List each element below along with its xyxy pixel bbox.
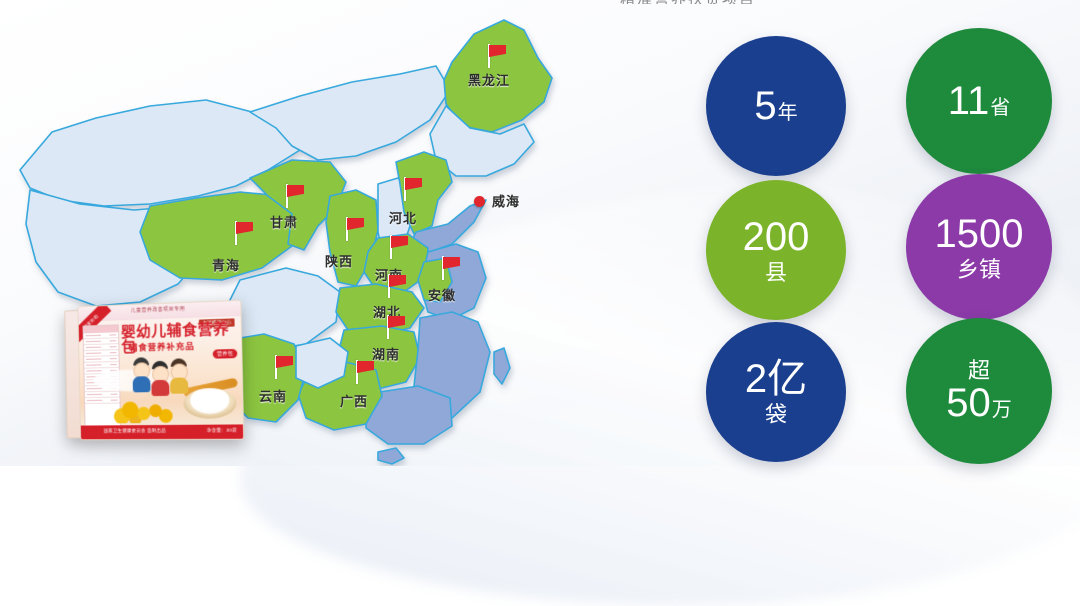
- province-label: 河北: [389, 208, 417, 227]
- stat-value: 2亿: [745, 359, 807, 399]
- stat-prefix: 超: [968, 360, 990, 382]
- stat-value: 200: [743, 217, 810, 257]
- product-footer: 国家卫生健康委员会 监制出品 净含量：30袋: [81, 424, 243, 439]
- stat-unit-inline: 省: [990, 97, 1010, 119]
- province-label: 湖南: [372, 344, 400, 363]
- stat-circle-years[interactable]: 5年: [706, 36, 846, 176]
- stat-value: 5年: [754, 86, 797, 126]
- city-label: 威海: [492, 191, 520, 210]
- region-hainan: [378, 448, 404, 464]
- province-label: 广西: [340, 391, 368, 410]
- child-body: [133, 376, 151, 392]
- region-taiwan: [494, 348, 510, 384]
- province-label: 河南: [375, 265, 403, 284]
- stat-number: 1500: [935, 212, 1024, 256]
- clipped-heading: 精准营养扶贫项目: [620, 0, 880, 4]
- province-label: 云南: [259, 386, 287, 405]
- stat-unit-below: 袋: [765, 404, 787, 426]
- product-box: 儿童营养改善项目专用 中国疾控中心 国家补助 婴幼儿辅食营养包 辅食营养补充品: [77, 300, 244, 441]
- stat-circle-townships[interactable]: 1500乡镇: [906, 174, 1052, 320]
- city-dot-icon: [474, 196, 485, 207]
- stat-value: 50万: [946, 383, 1012, 423]
- province-label: 黑龙江: [468, 70, 510, 89]
- child-body: [151, 380, 169, 396]
- province-label: 安徽: [428, 285, 456, 304]
- stat-circles-panel: 5年11省200县1500乡镇2亿袋超50万: [690, 14, 1058, 466]
- stat-value: 11省: [948, 81, 1011, 121]
- product-badge: 营养包: [213, 349, 238, 359]
- province-label: 青海: [212, 255, 240, 274]
- child-body: [170, 377, 188, 393]
- stat-number: 50: [946, 381, 991, 425]
- product-foot-left: 国家卫生健康委员会 监制出品: [104, 428, 166, 434]
- stat-unit-below: 乡镇: [957, 259, 1001, 281]
- stat-number: 11: [948, 79, 990, 123]
- stat-unit-inline: 年: [778, 102, 798, 124]
- stat-number: 5: [754, 84, 776, 128]
- stat-unit-below: 县: [765, 262, 787, 284]
- province-label: 湖北: [373, 302, 401, 321]
- province-label: 陕西: [325, 251, 353, 270]
- stat-number: 200: [743, 215, 810, 259]
- stat-circle-counties[interactable]: 200县: [706, 180, 846, 320]
- stat-circle-bags[interactable]: 2亿袋: [706, 322, 846, 462]
- product-subtitle: 辅食营养补充品: [129, 340, 195, 354]
- stat-circle-provinces[interactable]: 11省: [906, 28, 1052, 174]
- stat-value: 1500: [935, 214, 1024, 254]
- stat-number: 2亿: [745, 357, 807, 401]
- product-box-face: 儿童营养改善项目专用 中国疾控中心 国家补助 婴幼儿辅食营养包 辅食营养补充品: [77, 300, 244, 441]
- infographic-stage: 精准营养扶贫项目: [0, 0, 1080, 466]
- product-art-children: [131, 354, 193, 395]
- stat-unit-inline: 万: [992, 399, 1012, 421]
- province-label: 甘肃: [270, 212, 298, 231]
- product-foot-right: 净含量：30袋: [207, 428, 237, 434]
- stat-circle-children[interactable]: 超50万: [906, 318, 1052, 464]
